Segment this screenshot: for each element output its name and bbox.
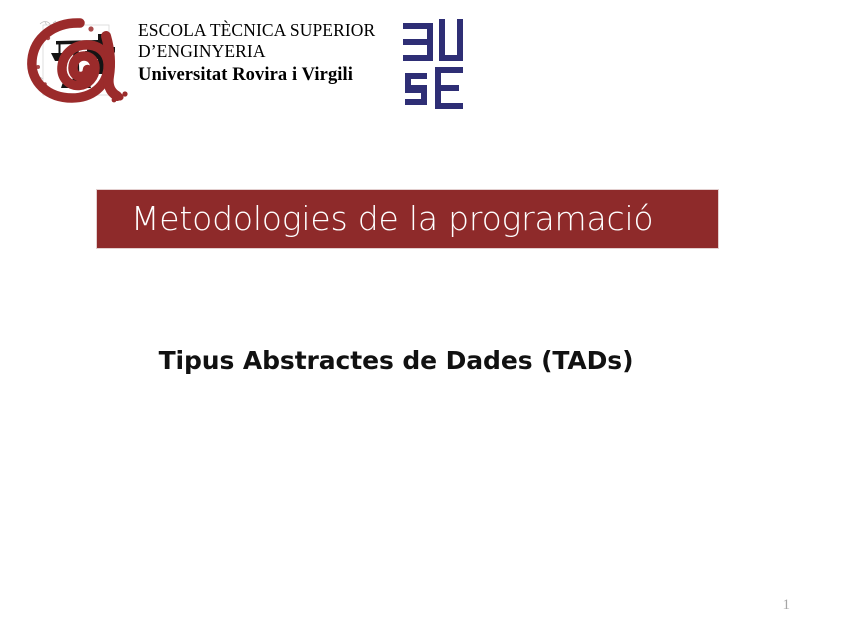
page-number: 1 xyxy=(783,596,791,614)
course-title-text: Metodologies de la programació xyxy=(131,199,653,239)
institution-name-block: ESCOLA TÈCNICA SUPERIOR D’ENGINYERIA Uni… xyxy=(138,20,400,87)
presentation-slide: ESCOLA TÈCNICA SUPERIOR D’ENGINYERIA Uni… xyxy=(0,0,848,636)
urv-a-brushstroke-logo-icon xyxy=(18,12,134,110)
course-title-banner: Metodologies de la programació xyxy=(96,189,719,249)
institution-name-line-1: ESCOLA TÈCNICA SUPERIOR xyxy=(138,20,400,41)
institution-logo-lockup: ESCOLA TÈCNICA SUPERIOR D’ENGINYERIA Uni… xyxy=(18,8,468,110)
institution-name-line-3: Universitat Rovira i Virgili xyxy=(138,63,400,87)
slide-subtitle: Tipus Abstractes de Dades (TADs) xyxy=(0,344,848,378)
institution-name-line-2: D’ENGINYERIA xyxy=(138,41,400,62)
etse-monogram-logo-icon xyxy=(401,17,467,111)
